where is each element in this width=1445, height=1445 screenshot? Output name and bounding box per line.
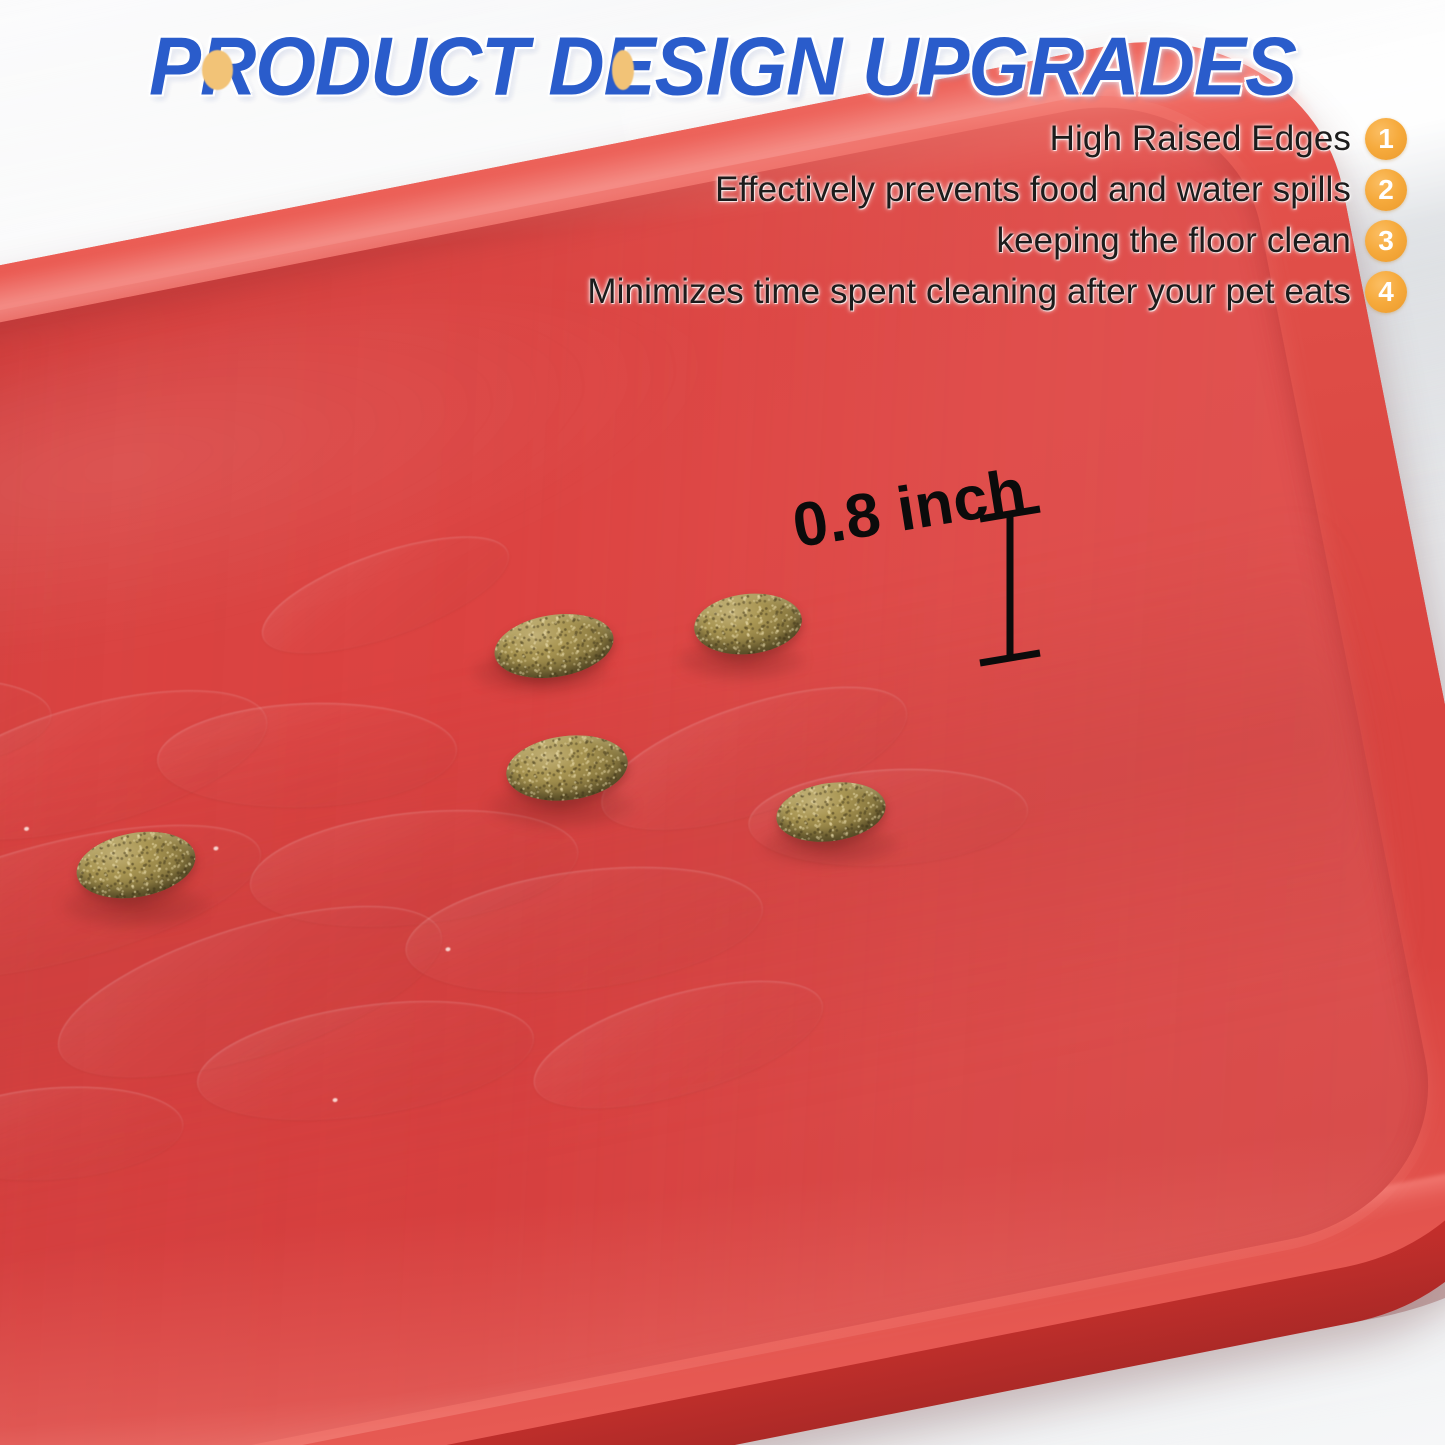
feature-item: Minimizes time spent cleaning after your… [487,271,1407,313]
feature-number-badge: 2 [1365,169,1407,211]
feature-label: Effectively prevents food and water spil… [715,170,1351,210]
feature-list: High Raised Edges 1 Effectively prevents… [487,118,1407,322]
feature-item: keeping the floor clean 3 [487,220,1407,262]
feature-label: Minimizes time spent cleaning after your… [587,272,1351,312]
feature-item: High Raised Edges 1 [487,118,1407,160]
feature-number-badge: 4 [1365,271,1407,313]
feature-number-badge: 3 [1365,220,1407,262]
feature-label: keeping the floor clean [997,221,1352,261]
feature-label: High Raised Edges [1050,119,1351,159]
i-beam-measure-icon [950,495,1070,695]
product-marketing-image: 0.8 inch PRODUCT DESIGN UPGRADES High Ra… [0,0,1445,1445]
feature-number-badge: 1 [1365,118,1407,160]
feature-item: Effectively prevents food and water spil… [487,169,1407,211]
